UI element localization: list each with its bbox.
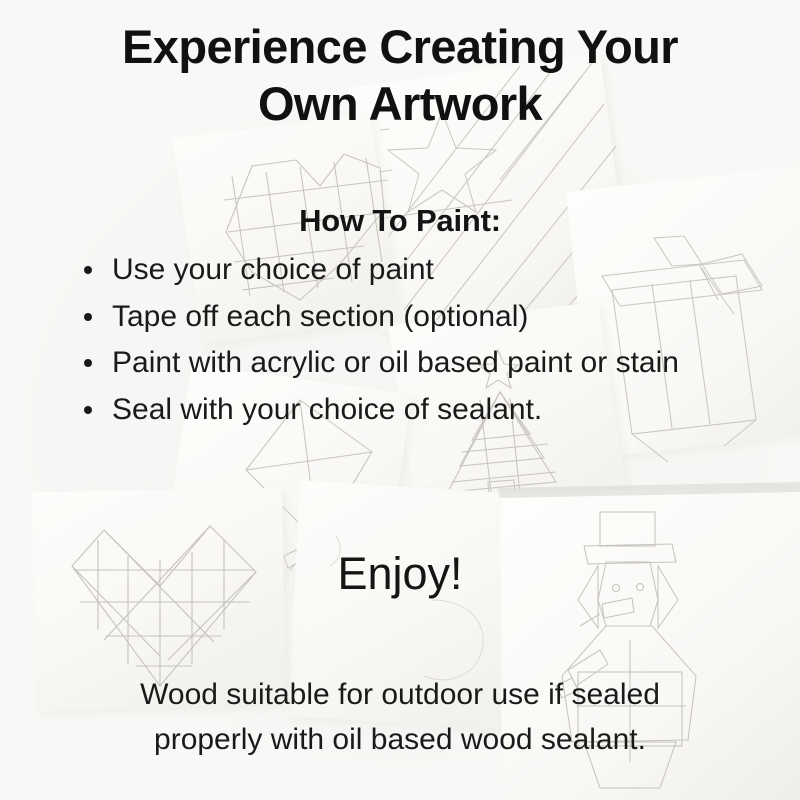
list-item: Paint with acrylic or oil based paint or… xyxy=(78,341,778,386)
how-to-paint-steps: Use your choice of paint Tape off each s… xyxy=(78,248,778,435)
enjoy-callout: Enjoy! xyxy=(230,549,570,599)
step-label: Paint with acrylic or oil based paint or… xyxy=(112,346,679,379)
outdoor-use-footnote: Wood suitable for outdoor use if sealed … xyxy=(30,672,770,762)
step-label: Tape off each section (optional) xyxy=(112,300,528,333)
text-overlay: Experience Creating Your Own Artwork How… xyxy=(0,0,800,800)
how-to-paint-heading: How To Paint: xyxy=(0,203,800,239)
bullet-dot-icon xyxy=(84,359,92,367)
infographic-canvas: Experience Creating Your Own Artwork How… xyxy=(0,0,800,800)
step-label: Use your choice of paint xyxy=(112,253,434,286)
list-item: Seal with your choice of sealant. xyxy=(78,388,778,433)
list-item: Tape off each section (optional) xyxy=(78,295,778,340)
step-label: Seal with your choice of sealant. xyxy=(112,393,542,426)
bullet-dot-icon xyxy=(84,406,92,414)
page-title: Experience Creating Your Own Artwork xyxy=(0,18,800,133)
bullet-dot-icon xyxy=(84,266,92,274)
list-item: Use your choice of paint xyxy=(78,248,778,293)
bullet-dot-icon xyxy=(84,313,92,321)
